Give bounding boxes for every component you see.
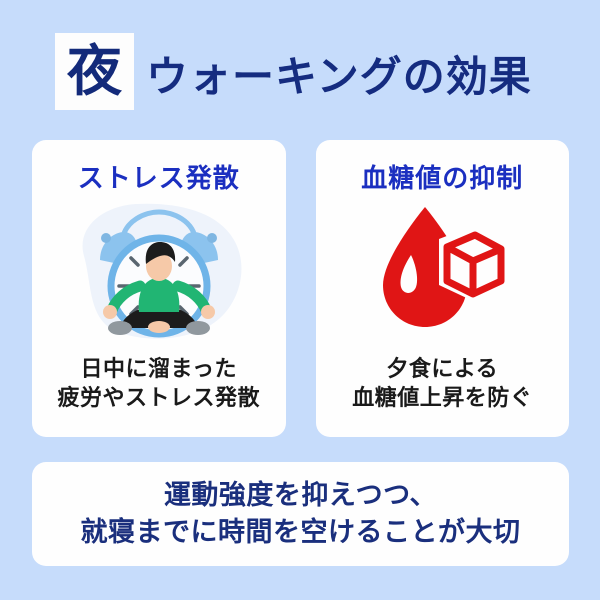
summary-banner-line2: 就寝までに時間を空けることが大切 <box>81 514 521 551</box>
card-stress-relief[interactable]: ストレス発散 <box>32 140 286 437</box>
night-badge-label: 夜 <box>67 44 122 99</box>
card-blood-sugar-title: 血糖値の抑制 <box>316 158 570 195</box>
card-blood-sugar[interactable]: 血糖値の抑制 <box>316 140 570 437</box>
card-stress-relief-body-line2: 疲労やストレス発散 <box>32 384 286 413</box>
card-stress-relief-body: 日中に溜まった 疲労やストレス発散 <box>32 355 286 413</box>
card-blood-sugar-body: 夕食による 血糖値上昇を防ぐ <box>316 355 570 413</box>
page-title: ウォーキングの効果 <box>146 43 532 104</box>
summary-banner: 運動強度を抑えつつ、 就寝までに時間を空けることが大切 <box>32 462 569 566</box>
benefit-cards: ストレス発散 <box>32 140 569 437</box>
card-stress-relief-art <box>32 194 286 344</box>
blood-drop-with-sugar-cube-icon <box>367 199 517 339</box>
summary-banner-line1: 運動強度を抑えつつ、 <box>164 477 437 514</box>
card-blood-sugar-body-line2: 血糖値上昇を防ぐ <box>316 384 570 413</box>
card-stress-relief-body-line1: 日中に溜まった <box>32 355 286 384</box>
meditating-person-with-alarm-clock-icon <box>54 194 264 344</box>
card-stress-relief-title: ストレス発散 <box>32 158 286 195</box>
night-badge: 夜 <box>55 33 134 110</box>
header: 夜 ウォーキングの効果 <box>0 0 600 132</box>
card-blood-sugar-art <box>316 194 570 344</box>
card-blood-sugar-body-line1: 夕食による <box>316 355 570 384</box>
